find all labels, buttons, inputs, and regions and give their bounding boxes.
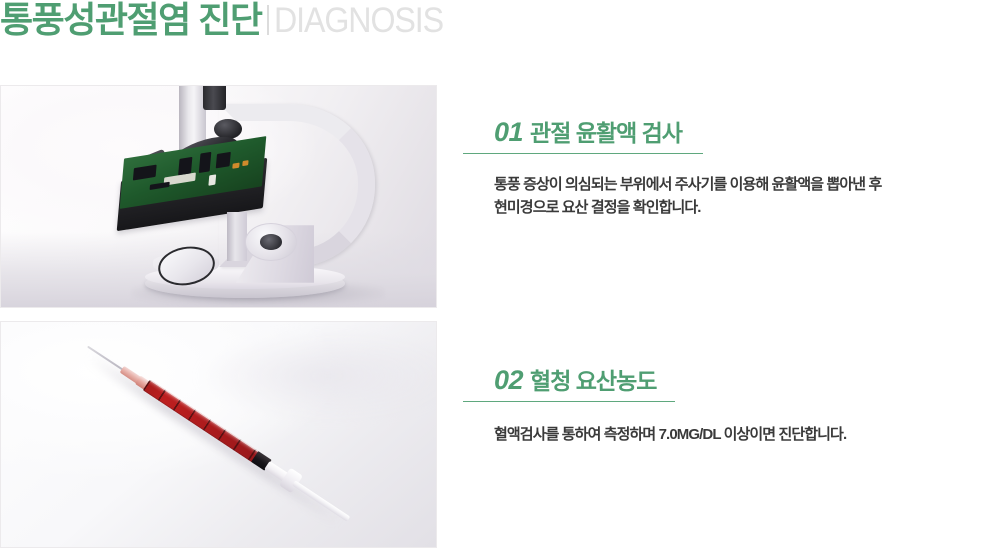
section-02-number: 02 <box>494 365 523 396</box>
syringe-barrel-glass <box>143 379 260 462</box>
diagnosis-section-02: 02 혈청 요산농도 혈액검사를 통하여 측정하며 7.0MG/DL 이상이면 … <box>0 321 1000 548</box>
pcb-chip <box>149 182 169 190</box>
page-title: 통풍성관절염 진단 <box>0 0 261 40</box>
section-02-content: 02 혈청 요산농도 혈액검사를 통하여 측정하며 7.0MG/DL 이상이면 … <box>463 362 1000 446</box>
pcb-chip <box>178 156 192 175</box>
syringe-shadow <box>86 351 343 526</box>
pcb-chip <box>242 160 248 165</box>
section-01-body: 통풍 증상이 의심되는 부위에서 주사기를 이용해 윤활액을 뽑아낸 후 현미경… <box>494 173 1000 219</box>
section-02-underline <box>463 401 675 402</box>
title-divider <box>267 5 269 35</box>
diagnosis-page: 통풍성관절염 진단 DIAGNOSIS <box>0 0 1000 548</box>
pcb-chip <box>198 152 211 174</box>
section-01-content: 01 관절 윤활액 검사 통풍 증상이 의심되는 부위에서 주사기를 이용해 윤… <box>463 114 1000 219</box>
microscope-eyepiece-icon <box>203 85 226 110</box>
microscope-pillar-icon <box>227 212 247 261</box>
syringe-image <box>0 321 437 548</box>
page-header: 통풍성관절염 진단 DIAGNOSIS <box>0 0 458 46</box>
blood-syringe-icon <box>84 340 352 524</box>
syringe-wrapper <box>1 322 436 547</box>
pcb-chip <box>208 174 216 185</box>
diagnosis-section-01: 01 관절 윤활액 검사 통풍 증상이 의심되는 부위에서 주사기를 이용해 윤… <box>0 85 1000 308</box>
section-02-body: 혈액검사를 통하여 측정하며 7.0MG/DL 이상이면 진단합니다. <box>494 423 1000 446</box>
section-01-underline <box>463 153 703 154</box>
pcb-chip <box>133 164 157 181</box>
section-01-number: 01 <box>494 117 523 148</box>
pcb-chip <box>215 151 230 168</box>
microscope-image <box>0 85 437 308</box>
microscope-focus-knob-icon <box>245 223 297 261</box>
pcb-chip <box>232 163 240 169</box>
section-01-title: 관절 윤활액 검사 <box>530 114 682 148</box>
section-02-heading: 02 혈청 요산농도 <box>463 362 1000 396</box>
section-01-heading: 01 관절 윤활액 검사 <box>463 114 1000 148</box>
section-02-title: 혈청 요산농도 <box>530 362 656 396</box>
page-title-english: DIAGNOSIS <box>274 1 443 41</box>
